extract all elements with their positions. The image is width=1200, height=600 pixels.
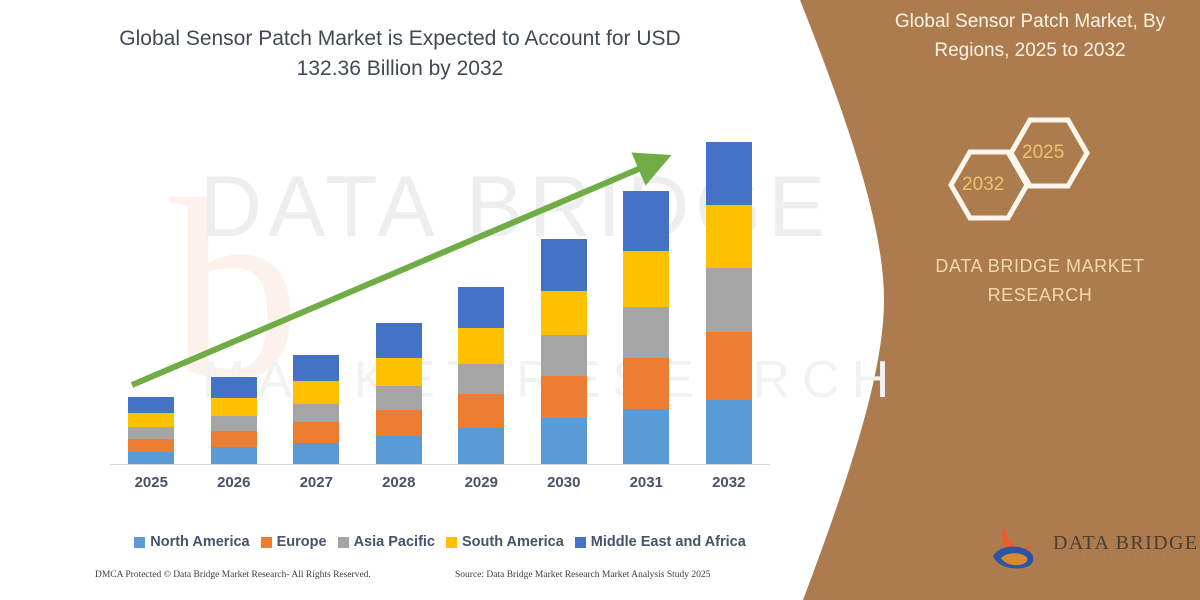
x-axis-label-2029: 2029 <box>441 474 521 491</box>
hexagon-label-left: 2032 <box>962 174 1004 196</box>
legend-item[interactable]: North America <box>134 534 249 550</box>
x-axis-label-2032: 2032 <box>689 474 769 491</box>
hexagon-shapes <box>930 112 1120 222</box>
x-axis-label-2026: 2026 <box>194 474 274 491</box>
x-axis-line <box>110 464 770 465</box>
footer-source: Source: Data Bridge Market Research Mark… <box>455 570 710 580</box>
footer-copyright: DMCA Protected © Data Bridge Market Rese… <box>95 570 371 580</box>
x-axis-labels: 20252026202720282029203020312032 <box>110 474 770 500</box>
legend-item[interactable]: South America <box>446 534 564 550</box>
x-axis-label-2031: 2031 <box>606 474 686 491</box>
x-axis-label-2030: 2030 <box>524 474 604 491</box>
company-logo: DATA BRIDGE MARKET RESEARCH PVT LTD <box>985 520 1190 580</box>
hexagon-group: 2032 2025 <box>930 112 1120 222</box>
legend-item[interactable]: Europe <box>261 534 327 550</box>
legend-label: North America <box>150 534 249 550</box>
legend-label: Asia Pacific <box>354 534 435 550</box>
x-axis-label-2027: 2027 <box>276 474 356 491</box>
legend-item[interactable]: Asia Pacific <box>338 534 435 550</box>
logo-title: DATA BRIDGE <box>1053 532 1198 555</box>
page-title: Global Sensor Patch Market is Expected t… <box>95 24 705 85</box>
chart-legend: North AmericaEuropeAsia PacificSouth Ame… <box>110 530 770 554</box>
infographic-root: Global Sensor Patch Market is Expected t… <box>0 0 1200 600</box>
growth-arrow-icon <box>110 140 770 465</box>
legend-label: Middle East and Africa <box>591 534 746 550</box>
legend-item[interactable]: Middle East and Africa <box>575 534 746 550</box>
x-axis-label-2025: 2025 <box>111 474 191 491</box>
panel-title: Global Sensor Patch Market, By Regions, … <box>875 8 1185 65</box>
bridge-logo-icon <box>985 520 1049 576</box>
legend-swatch-icon <box>338 537 349 548</box>
logo-subtitle: MARKET RESEARCH PVT LTD <box>1054 554 1184 561</box>
hexagon-label-right: 2025 <box>1022 142 1064 164</box>
legend-swatch-icon <box>575 537 586 548</box>
legend-swatch-icon <box>446 537 457 548</box>
legend-label: South America <box>462 534 564 550</box>
panel-brand-name: DATA BRIDGE MARKET RESEARCH <box>890 252 1190 310</box>
x-axis-label-2028: 2028 <box>359 474 439 491</box>
legend-swatch-icon <box>261 537 272 548</box>
legend-label: Europe <box>277 534 327 550</box>
legend-swatch-icon <box>134 537 145 548</box>
